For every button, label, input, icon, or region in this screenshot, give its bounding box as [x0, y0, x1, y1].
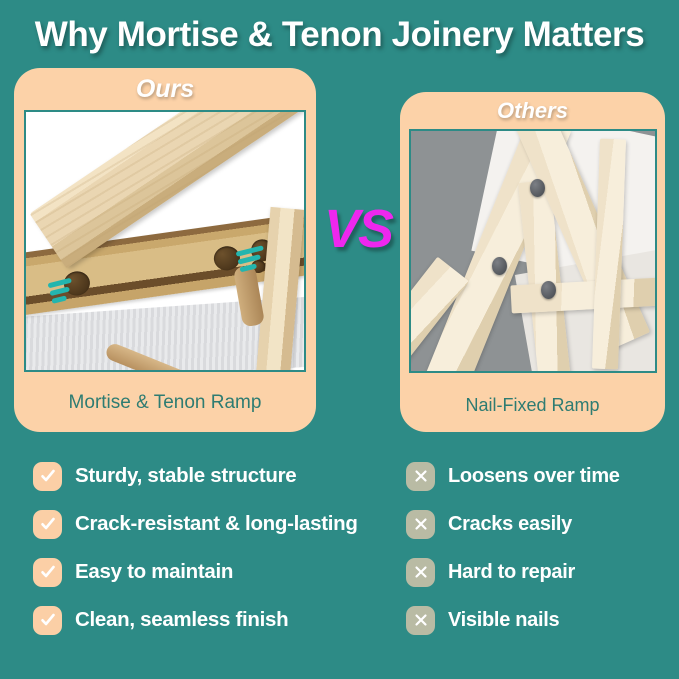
list-item: Clean, seamless finish: [33, 596, 383, 644]
list-item-label: Crack-resistant & long-lasting: [75, 512, 358, 536]
list-item-label: Sturdy, stable structure: [75, 464, 296, 488]
cross-icon: [406, 606, 435, 635]
check-icon: [33, 462, 62, 491]
list-item-label: Cracks easily: [448, 513, 572, 536]
photo-frame-ours: [24, 110, 306, 372]
list-item-label: Easy to maintain: [75, 560, 233, 584]
comparison-section: Ours: [0, 0, 679, 440]
feature-lists: Sturdy, stable structure Crack-resistant…: [0, 452, 679, 679]
list-item: Sturdy, stable structure: [33, 452, 383, 500]
cross-icon: [406, 510, 435, 539]
check-icon: [33, 510, 62, 539]
cross-icon: [406, 558, 435, 587]
list-item: Crack-resistant & long-lasting: [33, 500, 383, 548]
versus-divider: VS: [316, 196, 400, 262]
list-item: Easy to maintain: [33, 548, 383, 596]
list-item: Cracks easily: [406, 500, 676, 548]
list-item-label: Hard to repair: [448, 561, 575, 584]
card-caption-others: Nail-Fixed Ramp: [465, 395, 599, 416]
photo-others: [411, 131, 655, 371]
nail-head-icon: [530, 179, 545, 197]
card-caption-ours: Mortise & Tenon Ramp: [69, 392, 262, 414]
photo-ours: [26, 112, 304, 370]
list-item: Visible nails: [406, 596, 676, 644]
pros-column: Sturdy, stable structure Crack-resistant…: [33, 452, 383, 644]
list-item-label: Clean, seamless finish: [75, 608, 288, 632]
check-icon: [33, 558, 62, 587]
photo-frame-others: [409, 129, 657, 373]
cross-icon: [406, 462, 435, 491]
comparison-card-others: Others Nail-Fixed Ramp: [400, 92, 665, 432]
card-badge-others: Others: [497, 100, 568, 122]
check-icon: [33, 606, 62, 635]
nail-head-icon: [541, 281, 556, 299]
list-item-label: Visible nails: [448, 609, 559, 632]
nail-head-icon: [492, 257, 507, 275]
cons-column: Loosens over time Cracks easily Hard to …: [406, 452, 676, 644]
list-item: Hard to repair: [406, 548, 676, 596]
list-item: Loosens over time: [406, 452, 676, 500]
list-item-label: Loosens over time: [448, 465, 620, 488]
card-badge-ours: Ours: [136, 77, 194, 102]
comparison-card-ours: Ours: [14, 68, 316, 432]
